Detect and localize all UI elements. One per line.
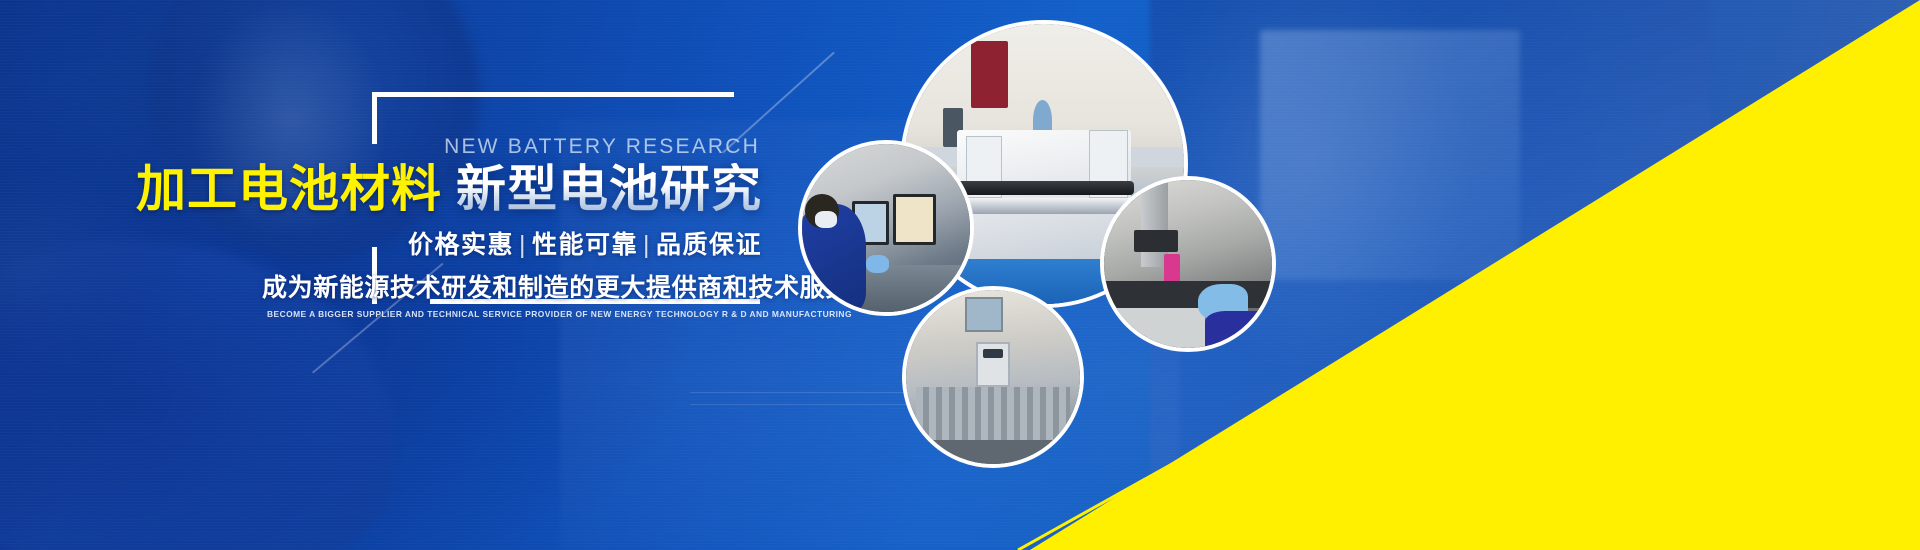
photo-detail-monitor-secondary — [893, 194, 937, 244]
photo-detail-uniform-sleeve — [1205, 311, 1272, 348]
hero-english-tagline: BECOME A BIGGER SUPPLIER AND TECHNICAL S… — [267, 309, 762, 319]
circle-photo-equipment-rack — [902, 286, 1084, 468]
hero-tagline: 成为新能源技术研发和制造的更大提供商和技术服务商 — [262, 268, 762, 304]
feature-item-price: 价格实惠 — [408, 231, 514, 259]
photo-detail-glove — [866, 255, 890, 273]
headline-secondary-text: 新型电池研究 — [456, 163, 762, 215]
feature-item-quality: 品质保证 — [656, 231, 762, 259]
feature-item-performance: 性能可靠 — [532, 231, 638, 259]
hero-feature-list: 价格实惠|性能可靠|品质保证 — [262, 225, 762, 261]
bracket-top-edge — [372, 92, 734, 97]
operator-workstation-photo — [802, 144, 970, 312]
photo-detail-base — [906, 440, 1080, 464]
headline-primary-text: 加工电池材料 — [136, 163, 442, 215]
photo-detail-press-head — [1134, 230, 1178, 252]
hero-overline: NEW BATTERY RESEARCH — [262, 136, 762, 157]
photo-detail-face-mask — [815, 211, 837, 228]
equipment-rack-photo — [906, 290, 1080, 464]
hero-headline: 加工电池材料 新型电池研究 — [262, 163, 762, 215]
photo-detail-button-strip — [983, 349, 1004, 358]
hero-copy-block: NEW BATTERY RESEARCH 加工电池材料 新型电池研究 价格实惠|… — [262, 136, 762, 319]
hero-banner: NEW BATTERY RESEARCH 加工电池材料 新型电池研究 价格实惠|… — [0, 0, 1920, 550]
photo-detail-rack — [916, 387, 1069, 443]
photo-detail-window — [965, 297, 1003, 332]
photo-detail-fire-cabinet — [971, 41, 1007, 108]
press-operation-photo — [1104, 180, 1272, 348]
feature-separator-1: | — [514, 231, 532, 259]
feature-separator-2: | — [638, 231, 656, 259]
circle-photo-press-operation — [1100, 176, 1276, 352]
photo-detail-work-surface — [1104, 308, 1205, 348]
